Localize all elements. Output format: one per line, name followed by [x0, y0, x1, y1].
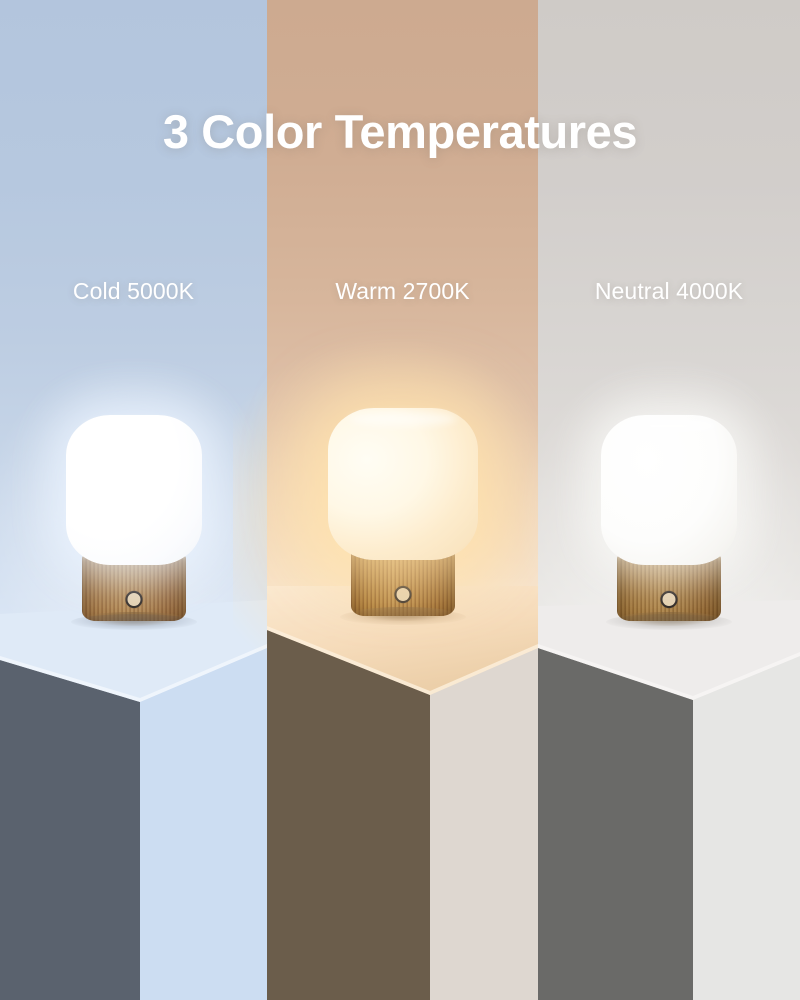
power-button-icon[interactable] — [661, 591, 678, 608]
power-button-icon[interactable] — [125, 591, 142, 608]
lamp-neutral — [589, 415, 749, 621]
lamp-cold — [54, 415, 214, 621]
product-feature-image: 3 Color Temperatures Cold 5000K Warm 270… — [0, 0, 800, 1000]
lamp-shade-neutral — [601, 415, 737, 565]
lamp-shade-warm — [328, 408, 478, 560]
base-contact-shadow-warm — [340, 609, 466, 625]
lamp-warm — [323, 408, 483, 616]
lamp-shade-cold — [66, 415, 202, 565]
page-title: 3 Color Temperatures — [0, 104, 800, 159]
color-temperature-label-cold: Cold 5000K — [0, 278, 267, 305]
base-contact-shadow-cold — [71, 614, 197, 630]
base-contact-shadow-neutral — [606, 614, 732, 630]
power-button-icon[interactable] — [394, 586, 411, 603]
color-temperature-label-neutral: Neutral 4000K — [538, 278, 800, 305]
color-temperature-label-warm: Warm 2700K — [267, 278, 538, 305]
